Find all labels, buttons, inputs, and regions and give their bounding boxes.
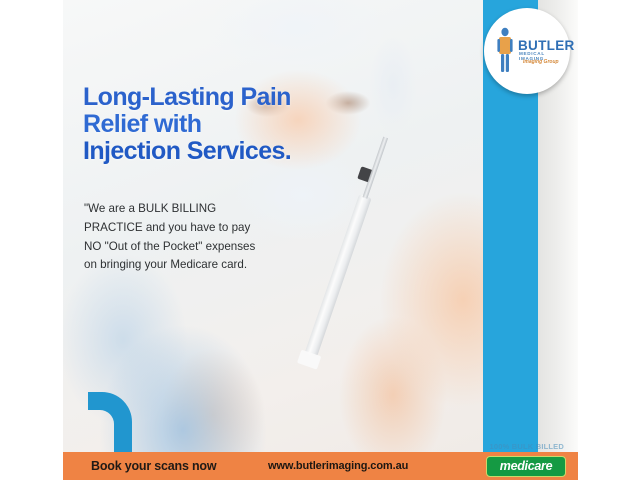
bottom-banner: Book your scans now www.butlerimaging.co… [63,452,578,480]
headline-line-2: Relief with [83,111,291,138]
medicare-label: medicare [500,459,553,473]
bulk-billed-note: 100% BULK BILLED [490,442,564,451]
decorative-arc [88,382,146,452]
logo-inner: BUTLER MEDICAL IMAGING Imaging Group [490,21,564,81]
body-line-1: "We are a BULK BILLING [84,200,319,219]
human-figure-icon [494,27,516,75]
book-scans-cta[interactable]: Book your scans now [91,459,216,473]
website-url[interactable]: www.butlerimaging.com.au [268,460,408,472]
body-line-4: on bringing your Medicare card. [84,256,319,275]
logo-tagline: Imaging Group [523,60,559,65]
body-line-2: PRACTICE and you have to pay [84,219,319,238]
headline-line-3: Injection Services. [83,138,291,165]
butler-logo-badge: BUTLER MEDICAL IMAGING Imaging Group [484,8,570,94]
advertisement-canvas: BUTLER MEDICAL IMAGING Imaging Group Lon… [63,0,578,480]
headline: Long-Lasting Pain Relief with Injection … [83,84,291,165]
medicare-badge: medicare [486,456,566,477]
body-copy: "We are a BULK BILLING PRACTICE and you … [84,200,319,275]
body-line-3: NO "Out of the Pocket" expenses [84,238,319,257]
headline-line-1: Long-Lasting Pain [83,84,291,111]
